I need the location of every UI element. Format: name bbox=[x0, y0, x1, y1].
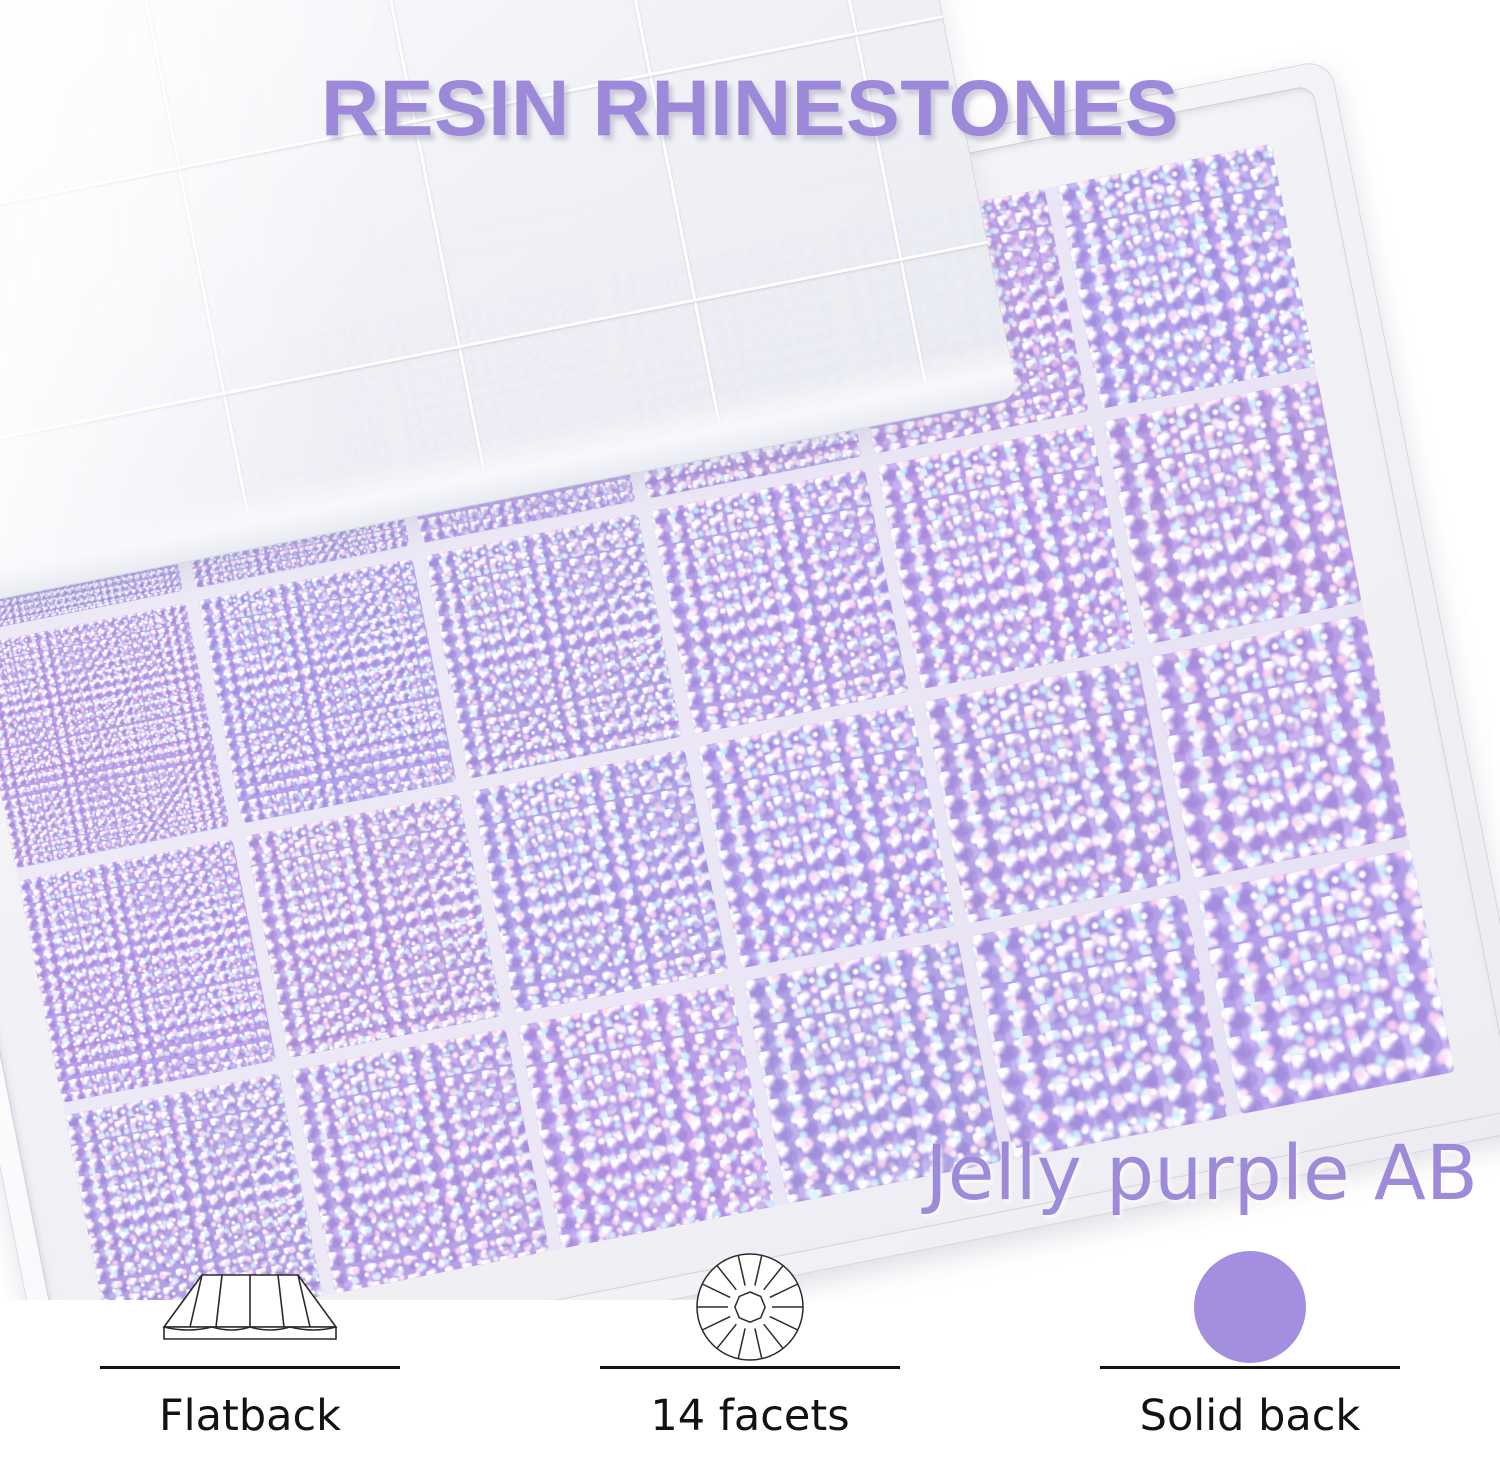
compartment bbox=[471, 749, 729, 1014]
compartment bbox=[878, 424, 1136, 689]
flatback-gem-side-view-icon bbox=[150, 1252, 350, 1362]
compartment bbox=[651, 469, 909, 734]
compartment bbox=[1057, 144, 1315, 409]
feature-divider-rule bbox=[100, 1366, 400, 1369]
solid-back-circle-swatch-icon bbox=[1194, 1252, 1306, 1362]
compartment bbox=[18, 838, 276, 1103]
fourteen-facet-gem-top-view-icon bbox=[692, 1252, 808, 1362]
feature-flatback: Flatback bbox=[0, 1252, 500, 1478]
compartment bbox=[425, 513, 683, 778]
feature-label: Flatback bbox=[159, 1391, 341, 1441]
feature-strip: Flatback 14 facets Solid back bbox=[0, 1252, 1500, 1478]
feature-label: Solid back bbox=[1140, 1391, 1361, 1441]
page-title: RESIN RHINESTONES bbox=[0, 62, 1500, 154]
compartment bbox=[245, 793, 503, 1058]
compartment bbox=[1197, 849, 1455, 1114]
compartment bbox=[971, 894, 1229, 1159]
feature-divider-rule bbox=[1100, 1366, 1400, 1369]
compartment bbox=[1151, 614, 1409, 879]
feature-solid-back: Solid back bbox=[1000, 1252, 1500, 1478]
compartment bbox=[1104, 379, 1362, 644]
color-name-caption: Jelly purple AB bbox=[925, 1128, 1478, 1217]
compartment bbox=[924, 659, 1182, 924]
product-photo: RESIN RHINESTONES Jelly purple AB bbox=[0, 0, 1500, 1300]
feature-14-facets: 14 facets bbox=[500, 1252, 1000, 1478]
compartment bbox=[698, 704, 956, 969]
compartment bbox=[198, 558, 456, 823]
feature-divider-rule bbox=[600, 1366, 900, 1369]
feature-label: 14 facets bbox=[650, 1391, 849, 1441]
compartment bbox=[0, 603, 229, 868]
product-image-canvas: RESIN RHINESTONES Jelly purple AB bbox=[0, 0, 1500, 1478]
compartment bbox=[518, 984, 776, 1249]
